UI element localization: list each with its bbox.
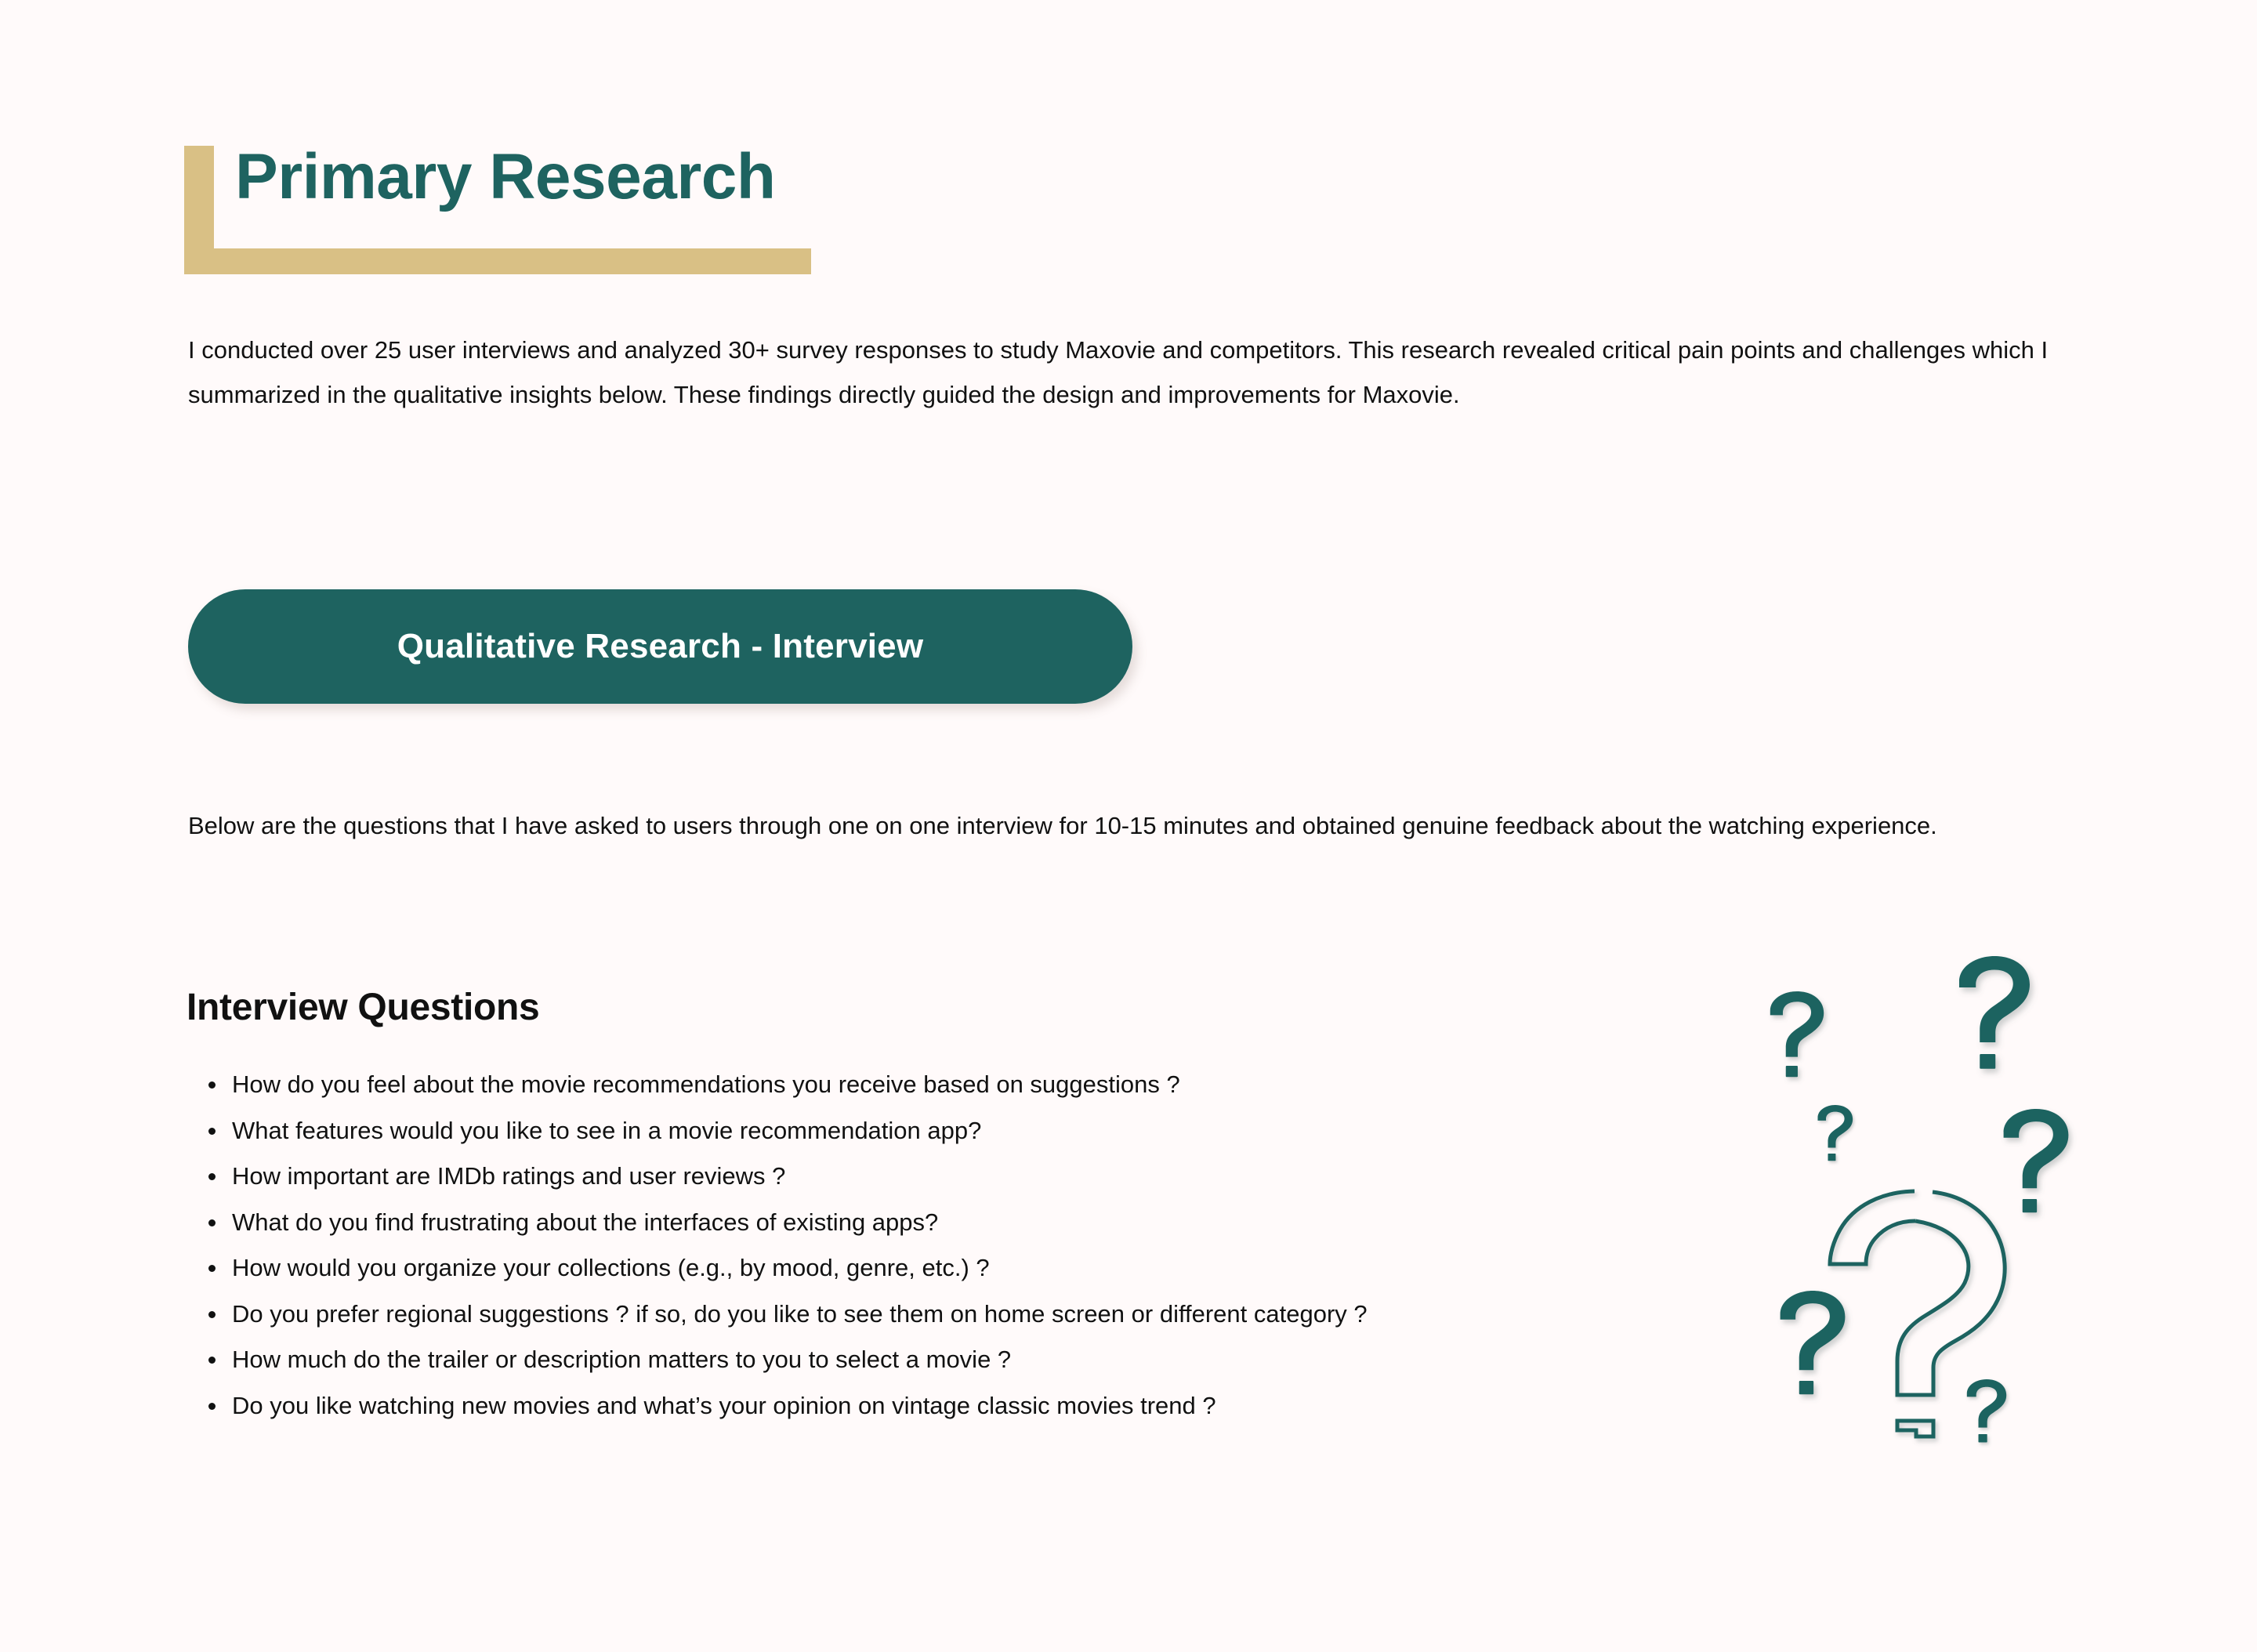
list-item: How would you organize your collections … (187, 1245, 1754, 1292)
list-item: What features would you like to see in a… (187, 1108, 1754, 1154)
bullet-icon (208, 1265, 216, 1272)
description-paragraph: Below are the questions that I have aske… (188, 803, 2092, 848)
list-item: How much do the trailer or description m… (187, 1337, 1754, 1383)
bullet-icon (208, 1219, 216, 1226)
list-item-label: How important are IMDb ratings and user … (232, 1162, 785, 1190)
interview-questions-heading: Interview Questions (187, 986, 539, 1029)
list-item-label: Do you like watching new movies and what… (232, 1392, 1216, 1419)
bullet-icon (208, 1357, 216, 1364)
list-item: Do you prefer regional suggestions ? if … (187, 1292, 1754, 1338)
list-item-label: Do you prefer regional suggestions ? if … (232, 1300, 1368, 1328)
list-item: Do you like watching new movies and what… (187, 1383, 1754, 1429)
list-item: How do you feel about the movie recommen… (187, 1062, 1754, 1108)
intro-paragraph: I conducted over 25 user interviews and … (188, 328, 2092, 417)
list-item-label: What features would you like to see in a… (232, 1117, 981, 1144)
list-item-label: How would you organize your collections … (232, 1254, 990, 1281)
bullet-icon (208, 1403, 216, 1410)
list-item-label: What do you find frustrating about the i… (232, 1208, 938, 1236)
list-item: What do you find frustrating about the i… (187, 1200, 1754, 1246)
qualitative-research-button[interactable]: Qualitative Research - Interview (188, 589, 1132, 704)
bullet-icon (208, 1128, 216, 1135)
list-item-label: How do you feel about the movie recommen… (232, 1071, 1180, 1098)
gold-bracket-horizontal (184, 248, 811, 274)
list-item: How important are IMDb ratings and user … (187, 1154, 1754, 1200)
bullet-icon (208, 1081, 216, 1089)
bullet-icon (208, 1173, 216, 1180)
question-marks-illustration (1736, 882, 2104, 1520)
page-title-block: Primary Research (184, 146, 1046, 279)
qualitative-research-button-label: Qualitative Research - Interview (397, 627, 924, 666)
page-title: Primary Research (235, 141, 775, 213)
bullet-icon (208, 1311, 216, 1318)
interview-questions-list: How do you feel about the movie recommen… (187, 1062, 1754, 1429)
slide-canvas: Primary Research I conducted over 25 use… (0, 0, 2257, 1652)
list-item-label: How much do the trailer or description m… (232, 1346, 1011, 1373)
